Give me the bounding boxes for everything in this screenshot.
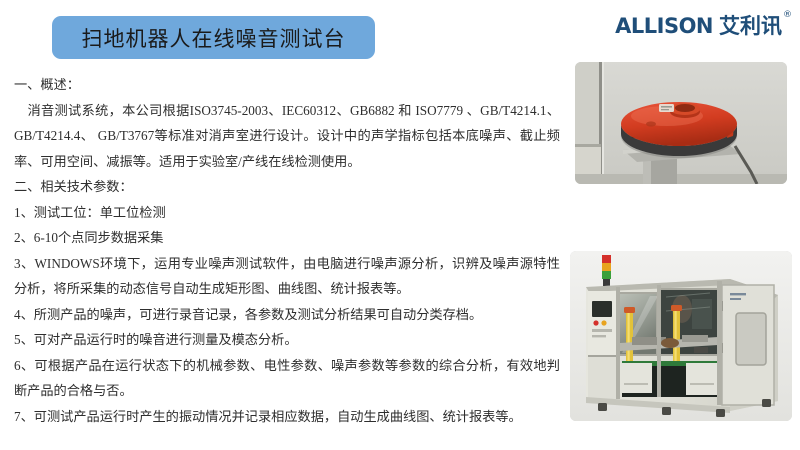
parameter-item: 4、所测产品的噪声，可进行录音记录，各参数及测试分析结果可自动分类存档。 [14, 302, 560, 328]
parameter-item: 5、可对产品运行时的噪音进行测量及模态分析。 [14, 327, 560, 353]
robot-vacuum-on-test-fixture-photo [575, 62, 787, 184]
specification-text-block: 一、概述： 消音测试系统，本公司根据ISO3745-2003、IEC60312、… [14, 72, 560, 429]
parameter-item: 6、可根据产品在运行状态下的机械参数、电性参数、噪声参数等参数的综合分析，有效地… [14, 353, 560, 404]
parameter-item: 1、测试工位：单工位检测 [14, 200, 560, 226]
parameter-item: 2、6-10个点同步数据采集 [14, 225, 560, 251]
parameter-item: 3、WINDOWS环境下，运用专业噪声测试软件，由电脑进行噪声源分析，识辨及噪声… [14, 251, 560, 302]
slide-title-banner: 扫地机器人在线噪音测试台 [52, 16, 375, 59]
test-cabinet-illustration [570, 251, 792, 421]
page-title: 扫地机器人在线噪音测试台 [82, 23, 346, 53]
slide-canvas: 扫地机器人在线噪音测试台 ALLISON 艾利讯 ® 一、概述： 消音测试系统，… [0, 0, 800, 450]
parameter-item: 7、可测试产品运行时产生的振动情况并记录相应数据，自动生成曲线图、统计报表等。 [14, 404, 560, 430]
company-logo: ALLISON 艾利讯 ® [615, 16, 792, 37]
section-heading-parameters: 二、相关技术参数： [14, 174, 560, 200]
overview-paragraph: 消音测试系统，本公司根据ISO3745-2003、IEC60312、GB6882… [14, 98, 560, 175]
robot-vacuum-illustration [575, 62, 787, 184]
noise-test-cabinet-photo [570, 251, 792, 421]
registered-trademark-icon: ® [783, 11, 792, 20]
logo-text-en: ALLISON [615, 16, 713, 37]
logo-text-cn: 艾利讯 [719, 16, 782, 37]
section-heading-overview: 一、概述： [14, 72, 560, 98]
